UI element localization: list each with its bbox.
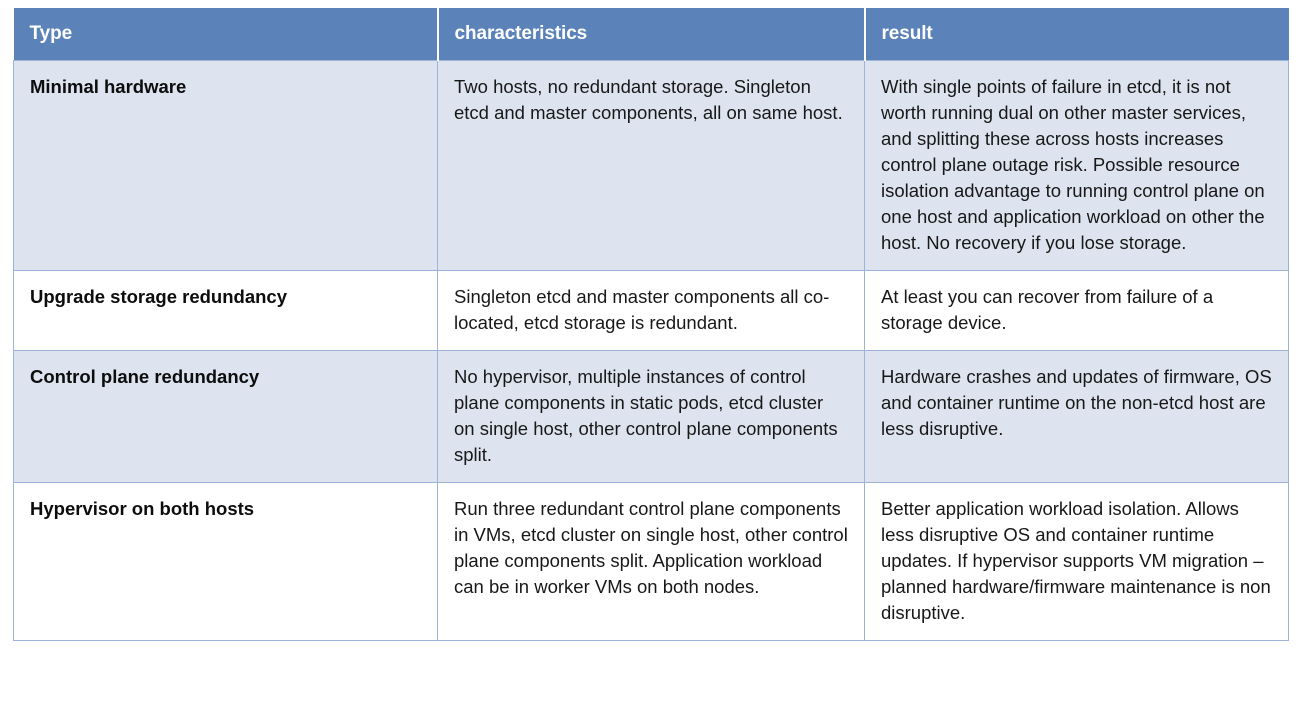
cell-characteristics: Run three redundant control plane compon… <box>438 483 865 641</box>
table-body: Minimal hardware Two hosts, no redundant… <box>14 61 1289 641</box>
comparison-table: Type characteristics result Minimal hard… <box>13 8 1289 641</box>
table-row: Control plane redundancy No hypervisor, … <box>14 351 1289 483</box>
comparison-table-container: Type characteristics result Minimal hard… <box>13 8 1288 641</box>
column-header-type: Type <box>14 8 438 61</box>
cell-type: Control plane redundancy <box>14 351 438 483</box>
table-row: Minimal hardware Two hosts, no redundant… <box>14 61 1289 271</box>
table-row: Upgrade storage redundancy Singleton etc… <box>14 271 1289 351</box>
cell-type: Upgrade storage redundancy <box>14 271 438 351</box>
cell-characteristics: Singleton etcd and master components all… <box>438 271 865 351</box>
cell-result: Better application workload isolation. A… <box>865 483 1289 641</box>
cell-type: Hypervisor on both hosts <box>14 483 438 641</box>
cell-characteristics: Two hosts, no redundant storage. Singlet… <box>438 61 865 271</box>
cell-result: Hardware crashes and updates of firmware… <box>865 351 1289 483</box>
cell-type: Minimal hardware <box>14 61 438 271</box>
cell-result: At least you can recover from failure of… <box>865 271 1289 351</box>
column-header-characteristics: characteristics <box>438 8 865 61</box>
table-row: Hypervisor on both hosts Run three redun… <box>14 483 1289 641</box>
table-header: Type characteristics result <box>14 8 1289 61</box>
column-header-result: result <box>865 8 1289 61</box>
cell-result: With single points of failure in etcd, i… <box>865 61 1289 271</box>
table-header-row: Type characteristics result <box>14 8 1289 61</box>
cell-characteristics: No hypervisor, multiple instances of con… <box>438 351 865 483</box>
